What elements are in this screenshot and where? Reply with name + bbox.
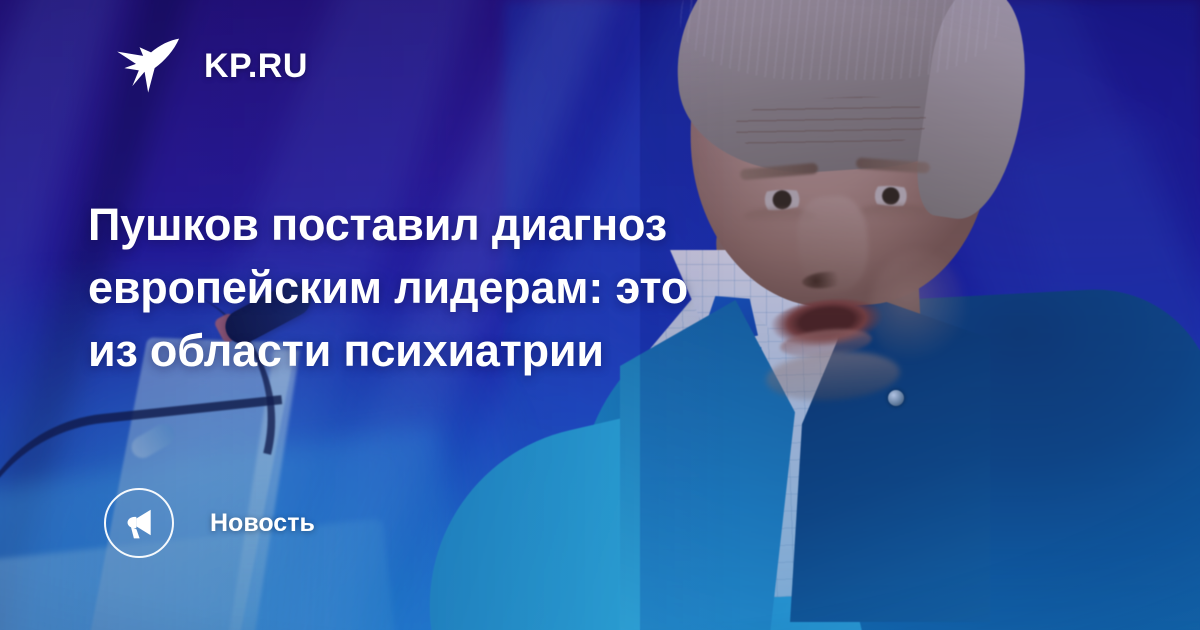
news-badge[interactable]: Новость xyxy=(104,488,315,558)
headline-line-1: Пушков поставил диагноз xyxy=(88,193,888,256)
badge-label: Новость xyxy=(210,511,315,536)
swallow-bird-logo-icon xyxy=(110,30,182,102)
megaphone-icon xyxy=(122,506,156,540)
overlay-content: KP.RU Пушков поставил диагноз европейски… xyxy=(0,0,1200,630)
brand-name: KP.RU xyxy=(204,49,308,83)
badge-circle xyxy=(104,488,174,558)
headline: Пушков поставил диагноз европейским лиде… xyxy=(88,193,888,382)
headline-line-2: европейским лидерам: это xyxy=(88,256,888,319)
brand-lockup[interactable]: KP.RU xyxy=(110,30,308,102)
headline-line-3: из области психиатрии xyxy=(88,319,888,382)
news-share-card: KP.RU Пушков поставил диагноз европейски… xyxy=(0,0,1200,630)
